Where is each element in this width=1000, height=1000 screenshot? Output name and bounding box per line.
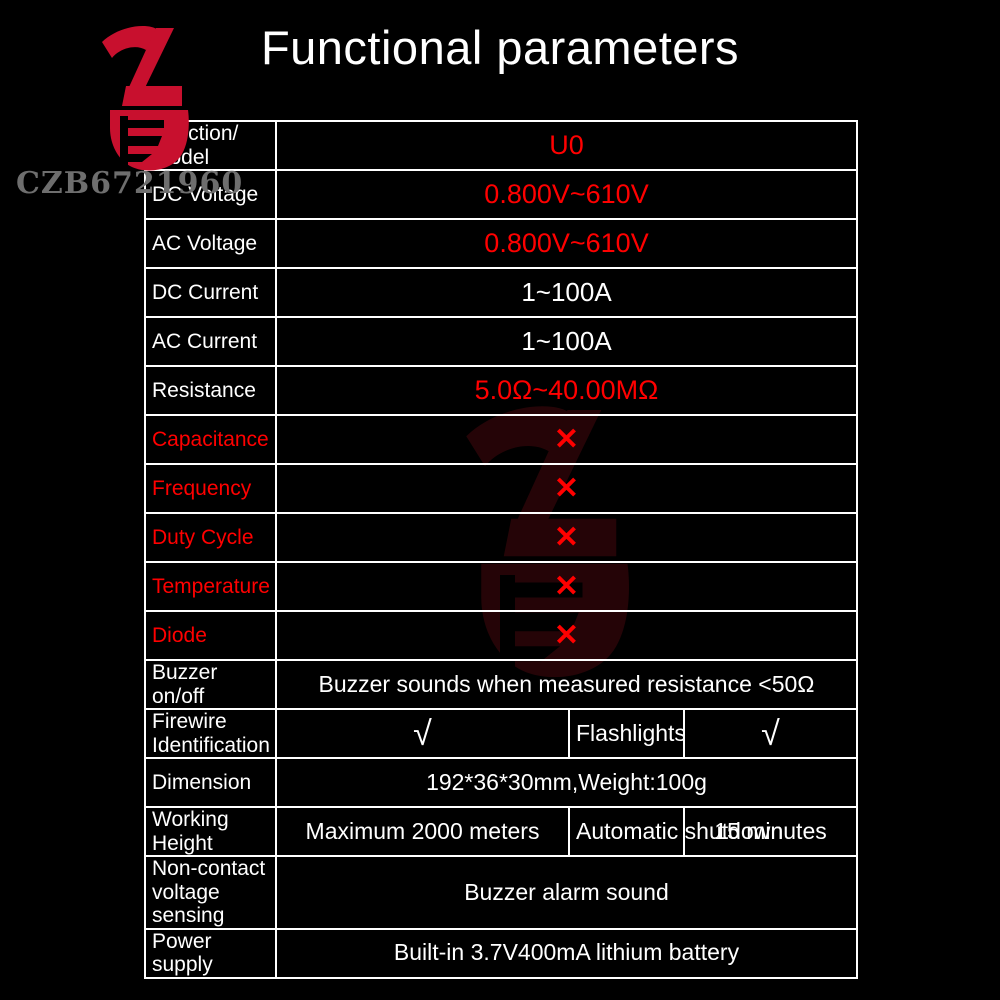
table-row: Non-contact voltage sensing Buzzer alarm… [145, 856, 857, 929]
row-label-ac-voltage: AC Voltage [145, 219, 276, 268]
table-row: Diode ✕ [145, 611, 857, 660]
row-value-dc-current: 1~100A [276, 268, 857, 317]
check-icon-flashlights: √ [684, 709, 857, 758]
table-row: Duty Cycle ✕ [145, 513, 857, 562]
cross-icon-capacitance: ✕ [276, 415, 857, 464]
row-value-power-supply: Built-in 3.7V400mA lithium battery [276, 929, 857, 978]
cross-icon-duty-cycle: ✕ [276, 513, 857, 562]
row-label-flashlights: Flashlights [569, 709, 684, 758]
table-row: DC Current 1~100A [145, 268, 857, 317]
table-row: Firewire Identification √ Flashlights √ [145, 709, 857, 758]
row-label-dc-current: DC Current [145, 268, 276, 317]
row-label-ac-current: AC Current [145, 317, 276, 366]
check-icon-firewire: √ [276, 709, 569, 758]
row-label-power-supply: Power supply [145, 929, 276, 978]
row-label-automatic-shutdown: Automatic shutdown [569, 807, 684, 856]
row-label-duty-cycle: Duty Cycle [145, 513, 276, 562]
row-label-dimension: Dimension [145, 758, 276, 807]
row-label-frequency: Frequency [145, 464, 276, 513]
row-value-model: U0 [276, 121, 857, 170]
row-label-firewire-identification: Firewire Identification [145, 709, 276, 758]
row-value-ac-voltage: 0.800V~610V [276, 219, 857, 268]
table-row: Frequency ✕ [145, 464, 857, 513]
row-label-diode: Diode [145, 611, 276, 660]
row-value-working-height: Maximum 2000 meters [276, 807, 569, 856]
table-row: AC Voltage 0.800V~610V [145, 219, 857, 268]
row-label-capacitance: Capacitance [145, 415, 276, 464]
table-row: Function/ Model U0 [145, 121, 857, 170]
row-value-ac-current: 1~100A [276, 317, 857, 366]
table-row: Temperature ✕ [145, 562, 857, 611]
table-row: Dimension 192*36*30mm,Weight:100g [145, 758, 857, 807]
row-value-resistance: 5.0Ω~40.00MΩ [276, 366, 857, 415]
row-value-dc-voltage: 0.800V~610V [276, 170, 857, 219]
table-row: Power supply Built-in 3.7V400mA lithium … [145, 929, 857, 978]
table-row: DC Voltage 0.800V~610V [145, 170, 857, 219]
zb-logo-mark [96, 24, 208, 176]
row-label-buzzer-on-off: Buzzer on/off [145, 660, 276, 709]
row-value-non-contact-voltage-sensing: Buzzer alarm sound [276, 856, 857, 929]
functional-parameters-table: Function/ Model U0 DC Voltage 0.800V~610… [144, 120, 858, 979]
row-value-buzzer-on-off: Buzzer sounds when measured resistance <… [276, 660, 857, 709]
table-row: Buzzer on/off Buzzer sounds when measure… [145, 660, 857, 709]
cross-icon-diode: ✕ [276, 611, 857, 660]
table-row: Capacitance ✕ [145, 415, 857, 464]
table-row: AC Current 1~100A [145, 317, 857, 366]
cross-icon-temperature: ✕ [276, 562, 857, 611]
row-label-non-contact-voltage-sensing: Non-contact voltage sensing [145, 856, 276, 929]
row-label-working-height: Working Height [145, 807, 276, 856]
table-row: Resistance 5.0Ω~40.00MΩ [145, 366, 857, 415]
cross-icon-frequency: ✕ [276, 464, 857, 513]
row-value-dimension: 192*36*30mm,Weight:100g [276, 758, 857, 807]
table-row: Working Height Maximum 2000 meters Autom… [145, 807, 857, 856]
row-label-temperature: Temperature [145, 562, 276, 611]
row-label-resistance: Resistance [145, 366, 276, 415]
